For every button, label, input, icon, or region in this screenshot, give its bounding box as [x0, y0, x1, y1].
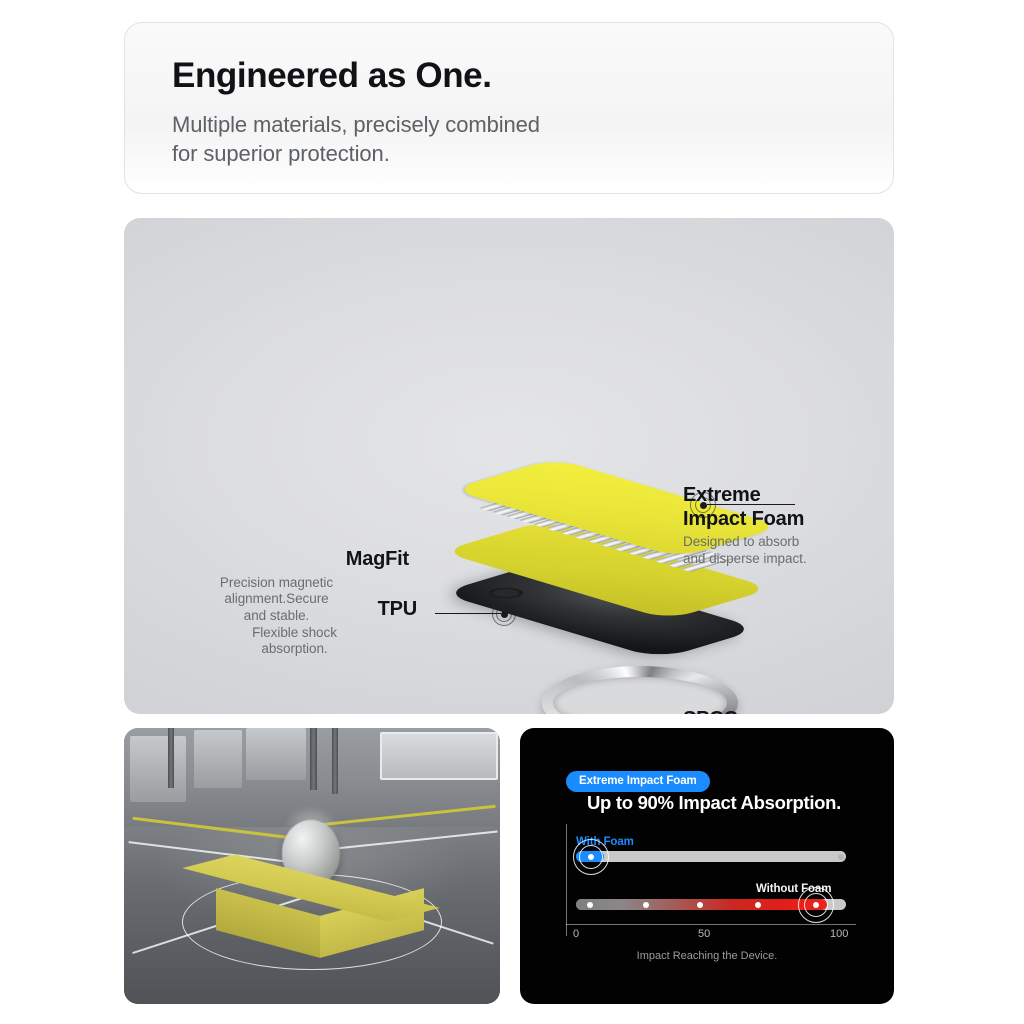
- with-foam-end-dot: [838, 854, 844, 860]
- impact-absorption-chart-panel: Extreme Impact Foam Up to 90% Impact Abs…: [520, 728, 894, 1004]
- label-desc-line-2: and disperse impact.: [683, 551, 807, 568]
- label-title-line-1: Extreme: [683, 484, 807, 508]
- label-magfit: MagFit Precision magnetic alignment.Secu…: [144, 548, 409, 625]
- photo-cabinet: [130, 736, 186, 802]
- photo-window: [380, 732, 498, 780]
- label-spcc: SPCC Optimized magnetic performance.: [683, 708, 801, 714]
- x-tick-0: 0: [573, 928, 579, 940]
- chart-x-axis: [566, 924, 856, 925]
- label-desc-line-1: Flexible shock: [172, 625, 417, 642]
- page-subtitle: Multiple materials, precisely combined f…: [172, 111, 540, 169]
- without-foam-dot: [587, 902, 593, 908]
- label-extreme-impact-foam: Extreme Impact Foam Designed to absorb a…: [683, 484, 807, 568]
- tpu-callout-dot: [501, 611, 508, 618]
- label-desc-line-2: alignment.Secure: [144, 591, 409, 608]
- page-title: Engineered as One.: [172, 56, 492, 96]
- label-title-line-2: Impact Foam: [683, 508, 807, 532]
- tpu-camera-hole: [481, 586, 530, 601]
- tpu-leader-line: [435, 613, 501, 614]
- with-foam-marker-ring-inner: [579, 845, 603, 869]
- without-foam-dot: [755, 902, 761, 908]
- photo-cabinet: [194, 730, 242, 788]
- without-foam-dot: [697, 902, 703, 908]
- x-tick-50: 50: [698, 928, 710, 940]
- label-desc: Precision magnetic alignment.Secure and …: [144, 575, 409, 626]
- exploded-diagram-panel: Extreme Impact Foam Designed to absorb a…: [124, 218, 894, 714]
- subtitle-line-1: Multiple materials, precisely combined: [172, 111, 540, 140]
- with-foam-track[interactable]: [576, 851, 846, 862]
- photo-cabinet: [246, 728, 306, 780]
- photo-post: [310, 728, 317, 790]
- header-card: Engineered as One. Multiple materials, p…: [124, 22, 894, 194]
- without-foam-dot: [643, 902, 649, 908]
- label-desc: Designed to absorb and disperse impact.: [683, 534, 807, 568]
- foam-test-block: [186, 856, 436, 948]
- without-foam-marker-ring-inner: [804, 893, 828, 917]
- label-title-line-1: MagFit: [144, 548, 409, 572]
- photo-post: [168, 728, 174, 788]
- label-desc-line-1: Precision magnetic: [144, 575, 409, 592]
- layer-spcc-ring: [542, 666, 738, 714]
- subtitle-line-2: for superior protection.: [172, 140, 540, 169]
- photo-post: [332, 728, 338, 794]
- impact-test-photo: [124, 728, 500, 1004]
- label-desc-line-3: and stable.: [144, 608, 409, 625]
- chart-x-axis-caption: Impact Reaching the Device.: [520, 950, 894, 962]
- label-desc: Flexible shock absorption.: [172, 625, 417, 659]
- chart-plot-area: With Foam Without Foam 0 50 100 Imp: [520, 728, 894, 1004]
- x-tick-100: 100: [830, 928, 848, 940]
- product-infographic: Engineered as One. Multiple materials, p…: [0, 0, 1024, 1024]
- label-title-line-1: SPCC: [683, 708, 801, 714]
- label-desc-line-2: absorption.: [172, 641, 417, 658]
- label-desc-line-1: Designed to absorb: [683, 534, 807, 551]
- chart-y-axis: [566, 824, 567, 936]
